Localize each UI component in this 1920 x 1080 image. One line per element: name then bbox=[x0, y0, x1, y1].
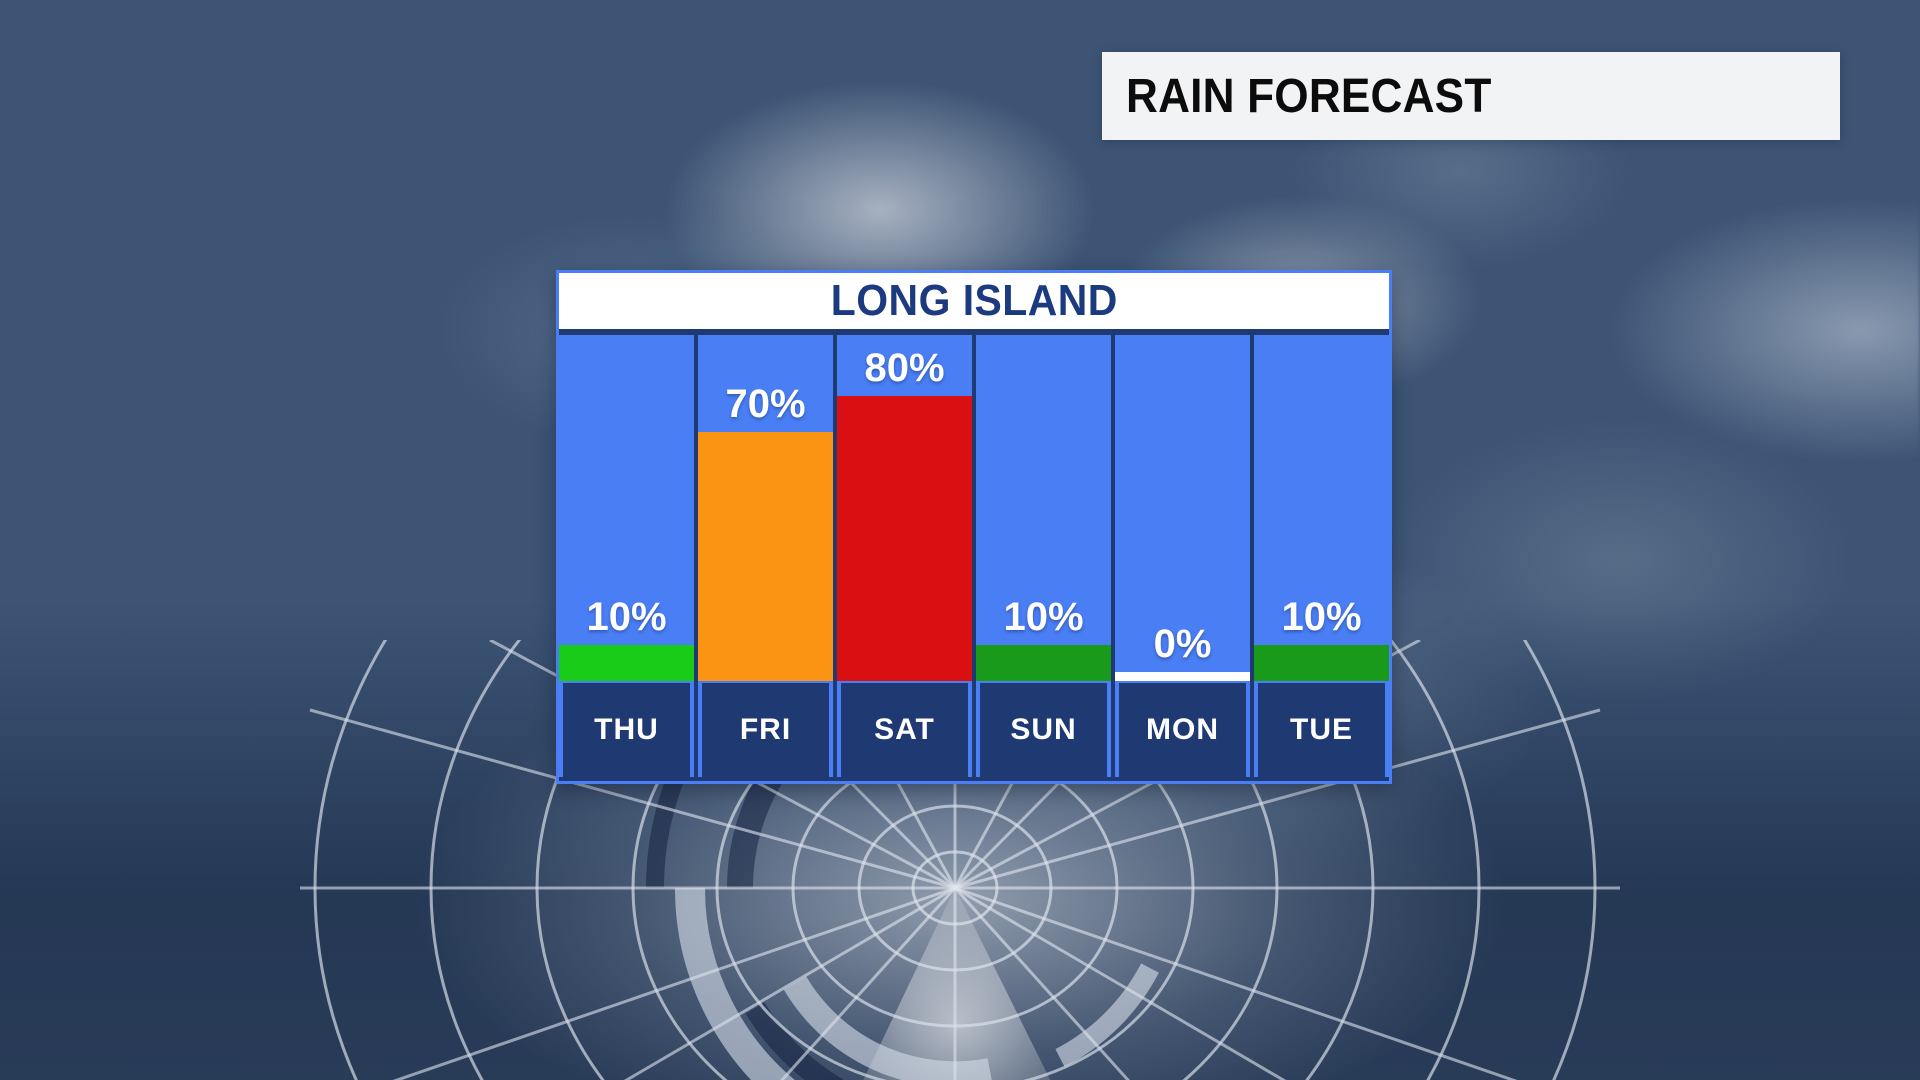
forecast-column-sat[interactable]: 80% SAT bbox=[837, 335, 972, 777]
percent-label-mon: 0% bbox=[1115, 624, 1250, 672]
day-box-sat: SAT bbox=[839, 681, 970, 777]
rain-bar-thu bbox=[559, 645, 694, 681]
location-name: LONG ISLAND bbox=[830, 276, 1117, 326]
rain-bar-fri bbox=[698, 432, 833, 681]
weather-graphic-stage: RAIN FORECAST LONG ISLAND 10% THU 70% FR… bbox=[0, 0, 1920, 1080]
day-label-mon: MON bbox=[1146, 713, 1219, 747]
percent-label-sun: 10% bbox=[976, 597, 1111, 645]
day-label-tue: TUE bbox=[1290, 713, 1353, 747]
panel-header: LONG ISLAND bbox=[559, 273, 1389, 335]
day-label-fri: FRI bbox=[740, 713, 791, 747]
percent-label-tue: 10% bbox=[1254, 597, 1389, 645]
day-box-fri: FRI bbox=[700, 681, 831, 777]
day-box-sun: SUN bbox=[978, 681, 1109, 777]
day-box-mon: MON bbox=[1117, 681, 1248, 777]
rain-forecast-title-banner: RAIN FORECAST bbox=[1102, 52, 1840, 140]
rain-bar-sun bbox=[976, 645, 1111, 681]
forecast-column-thu[interactable]: 10% THU bbox=[559, 335, 694, 777]
forecast-columns: 10% THU 70% FRI 80% SAT bbox=[559, 335, 1389, 781]
percent-label-sat: 80% bbox=[837, 348, 972, 396]
day-label-sat: SAT bbox=[874, 713, 935, 747]
day-box-tue: TUE bbox=[1256, 681, 1387, 777]
rain-bar-tue bbox=[1254, 645, 1389, 681]
day-box-thu: THU bbox=[561, 681, 692, 777]
forecast-column-mon[interactable]: 0% MON bbox=[1115, 335, 1250, 777]
percent-label-fri: 70% bbox=[698, 384, 833, 432]
forecast-column-sun[interactable]: 10% SUN bbox=[976, 335, 1111, 777]
forecast-panel: LONG ISLAND 10% THU 70% FRI 80% bbox=[556, 270, 1392, 784]
day-label-sun: SUN bbox=[1010, 713, 1076, 747]
rain-bar-mon bbox=[1115, 672, 1250, 681]
forecast-column-tue[interactable]: 10% TUE bbox=[1254, 335, 1389, 777]
rain-bar-sat bbox=[837, 396, 972, 681]
page-title: RAIN FORECAST bbox=[1126, 69, 1491, 124]
day-label-thu: THU bbox=[594, 713, 659, 747]
forecast-column-fri[interactable]: 70% FRI bbox=[698, 335, 833, 777]
percent-label-thu: 10% bbox=[559, 597, 694, 645]
